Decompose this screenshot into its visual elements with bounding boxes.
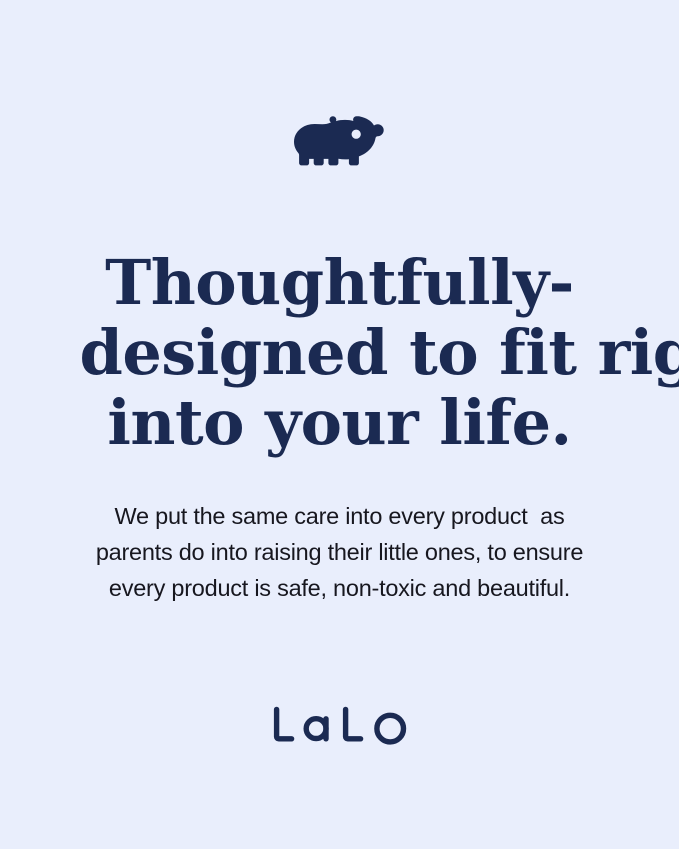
headline-line-3: into your life. [80,388,600,458]
headline-line-2: designed to fit right [80,318,600,388]
body-line-1: We put the same care into every product … [80,498,600,534]
lalo-wordmark: LALO [0,706,679,750]
hippo-icon [294,112,386,170]
page-title: Thoughtfully- designed to fit right into… [80,248,600,458]
body-paragraph: We put the same care into every product … [80,498,600,606]
body-line-2: parents do into raising their little one… [80,534,600,570]
body-line-3: every product is safe, non-toxic and bea… [80,570,600,606]
promo-card: Thoughtfully- designed to fit right into… [0,0,679,849]
headline-line-1: Thoughtfully- [80,248,600,318]
